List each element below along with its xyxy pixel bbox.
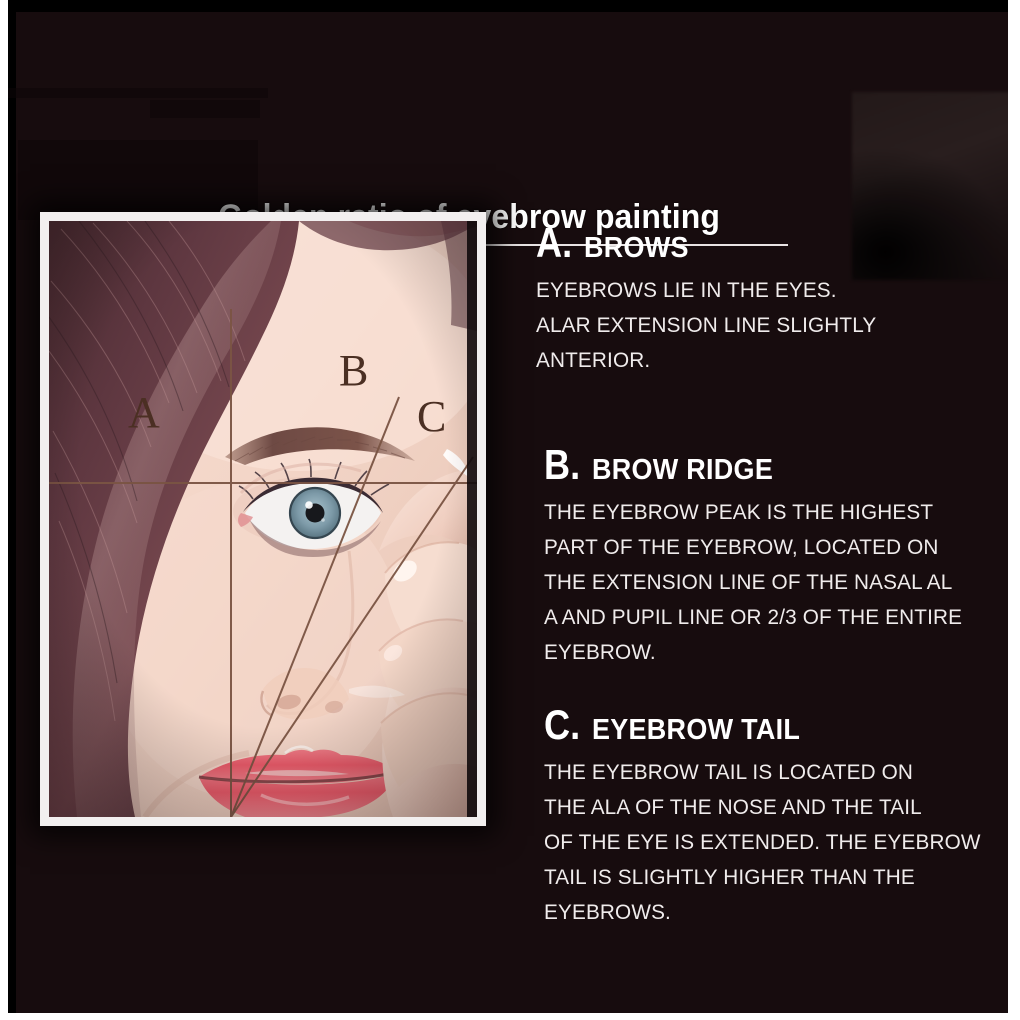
section-b-line-1: THE EYEBROW PEAK IS THE HIGHEST <box>544 495 962 530</box>
right-rail <box>1008 0 1020 1020</box>
section-eyebrow-tail: C. EYEBROW TAIL THE EYEBROW TAIL IS LOCA… <box>544 704 996 930</box>
section-a-letter: A. <box>536 222 572 264</box>
bottom-rail <box>0 1013 1020 1020</box>
section-c-letter: C. <box>544 704 580 746</box>
section-brows: A. BROWS EYEBROWS LIE IN THE EYES. ALAR … <box>536 222 889 378</box>
section-c-line-1: THE EYEBROW TAIL IS LOCATED ON <box>544 755 981 790</box>
section-b-title: BROW RIDGE <box>592 454 773 487</box>
photo-frame: A B C <box>40 212 486 826</box>
model-photo: A B C <box>49 221 477 817</box>
section-b-letter: B. <box>544 444 580 486</box>
section-a-line-2: ALAR EXTENSION LINE SLIGHTLY <box>536 308 876 343</box>
section-c-line-2: THE ALA OF THE NOSE AND THE TAIL <box>544 790 981 825</box>
section-b-heading: B. BROW RIDGE <box>544 444 977 487</box>
section-a-body: EYEBROWS LIE IN THE EYES. ALAR EXTENSION… <box>536 273 876 378</box>
section-a-line-1: EYEBROWS LIE IN THE EYES. <box>536 273 876 308</box>
section-b-body: THE EYEBROW PEAK IS THE HIGHEST PART OF … <box>544 495 962 670</box>
photo-illustration: A B C <box>49 221 477 817</box>
section-a-title: BROWS <box>584 232 689 265</box>
poster-header: Golden ratio of eyebrow painting <box>0 96 1020 176</box>
section-b-line-4: A AND PUPIL LINE OR 2/3 OF THE ENTIRE <box>544 600 962 635</box>
section-b-line-3: THE EXTENSION LINE OF THE NASAL AL <box>544 565 962 600</box>
section-brow-ridge: B. BROW RIDGE THE EYEBROW PEAK IS THE HI… <box>544 444 977 670</box>
section-c-title: EYEBROW TAIL <box>592 714 800 747</box>
poster-canvas: Golden ratio of eyebrow painting <box>0 0 1020 1020</box>
section-a-line-3: ANTERIOR. <box>536 343 876 378</box>
section-b-line-2: PART OF THE EYEBROW, LOCATED ON <box>544 530 962 565</box>
section-c-line-4: TAIL IS SLIGHTLY HIGHER THAN THE <box>544 860 981 895</box>
left-rail <box>0 0 8 1020</box>
section-c-line-5: EYEBROWS. <box>544 895 981 930</box>
section-c-heading: C. EYEBROW TAIL <box>544 704 996 747</box>
section-c-line-3: OF THE EYE IS EXTENDED. THE EYEBROW <box>544 825 981 860</box>
section-c-body: THE EYEBROW TAIL IS LOCATED ON THE ALA O… <box>544 755 981 930</box>
section-a-heading: A. BROWS <box>536 222 889 265</box>
section-b-line-5: EYEBROW. <box>544 635 962 670</box>
